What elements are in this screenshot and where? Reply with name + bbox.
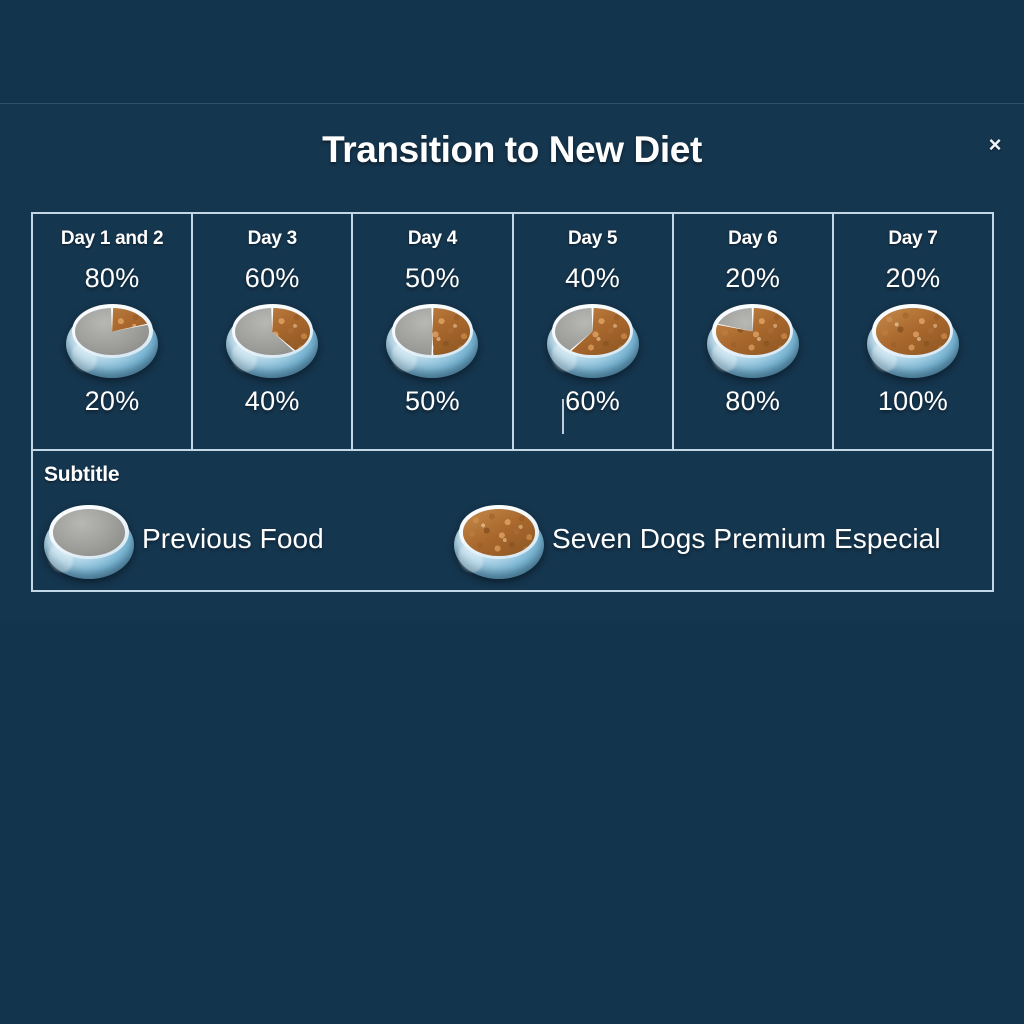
day-label: Day 1 and 2 xyxy=(61,228,163,254)
day-label: Day 5 xyxy=(568,228,617,254)
new-food-percent: 40% xyxy=(245,386,300,417)
day-column[interactable]: Day 360%40% xyxy=(193,214,353,449)
day-label: Day 7 xyxy=(888,228,937,254)
previous-food-percent: 20% xyxy=(885,263,940,294)
bowl-food-area xyxy=(235,308,310,355)
page-title: Transition to New Diet xyxy=(0,129,1024,171)
day-label: Day 3 xyxy=(248,228,297,254)
bowl-food-area xyxy=(555,308,630,355)
legend-subtitle: Subtitle xyxy=(44,463,992,487)
previous-food-percent: 60% xyxy=(245,263,300,294)
previous-food-percent: 40% xyxy=(565,263,620,294)
day-column[interactable]: Day 1 and 280%20% xyxy=(33,214,193,449)
text-caret-artifact xyxy=(562,399,564,434)
previous-food-percent: 50% xyxy=(405,263,460,294)
legend-item-label: Seven Dogs Premium Especial xyxy=(552,523,941,555)
new-food-percent: 50% xyxy=(405,386,460,417)
food-bowl-icon xyxy=(454,501,544,577)
transition-diet-modal: × Transition to New Diet Day 1 and 280%2… xyxy=(0,103,1024,623)
diet-schedule-box: Day 1 and 280%20%Day 360%40%Day 450%50%D… xyxy=(31,212,994,592)
day-label: Day 6 xyxy=(728,228,777,254)
new-food-percent: 80% xyxy=(725,386,780,417)
day-column[interactable]: Day 450%50% xyxy=(353,214,513,449)
food-bowl-icon xyxy=(386,300,478,378)
new-food-percent: 60% xyxy=(565,386,620,417)
bowl-food-area xyxy=(876,308,951,355)
food-bowl-icon xyxy=(226,300,318,378)
previous-food-percent: 20% xyxy=(725,263,780,294)
food-bowl-icon xyxy=(44,501,134,577)
food-bowl-icon xyxy=(867,300,959,378)
day-column[interactable]: Day 540%60% xyxy=(514,214,674,449)
previous-food-percent: 80% xyxy=(85,263,140,294)
bowl-food-area xyxy=(395,308,470,355)
bowl-food-area xyxy=(716,308,791,355)
legend-items: Previous FoodSeven Dogs Premium Especial xyxy=(44,501,992,577)
kibble-portion xyxy=(876,308,951,355)
new-food-percent: 100% xyxy=(878,386,948,417)
legend-item-label: Previous Food xyxy=(142,523,324,555)
day-column[interactable]: Day 620%80% xyxy=(674,214,834,449)
legend-item: Previous Food xyxy=(44,501,454,577)
bowl-food-area xyxy=(53,509,126,556)
bowl-food-area xyxy=(75,308,150,355)
day-columns-row: Day 1 and 280%20%Day 360%40%Day 450%50%D… xyxy=(33,214,992,451)
day-label: Day 4 xyxy=(408,228,457,254)
kibble-portion xyxy=(463,509,536,556)
food-bowl-icon xyxy=(66,300,158,378)
bowl-food-area xyxy=(463,509,536,556)
legend-item: Seven Dogs Premium Especial xyxy=(454,501,941,577)
food-bowl-icon xyxy=(547,300,639,378)
legend-section: Subtitle Previous FoodSeven Dogs Premium… xyxy=(33,451,992,588)
food-bowl-icon xyxy=(707,300,799,378)
day-column[interactable]: Day 720%100% xyxy=(834,214,992,449)
new-food-percent: 20% xyxy=(85,386,140,417)
